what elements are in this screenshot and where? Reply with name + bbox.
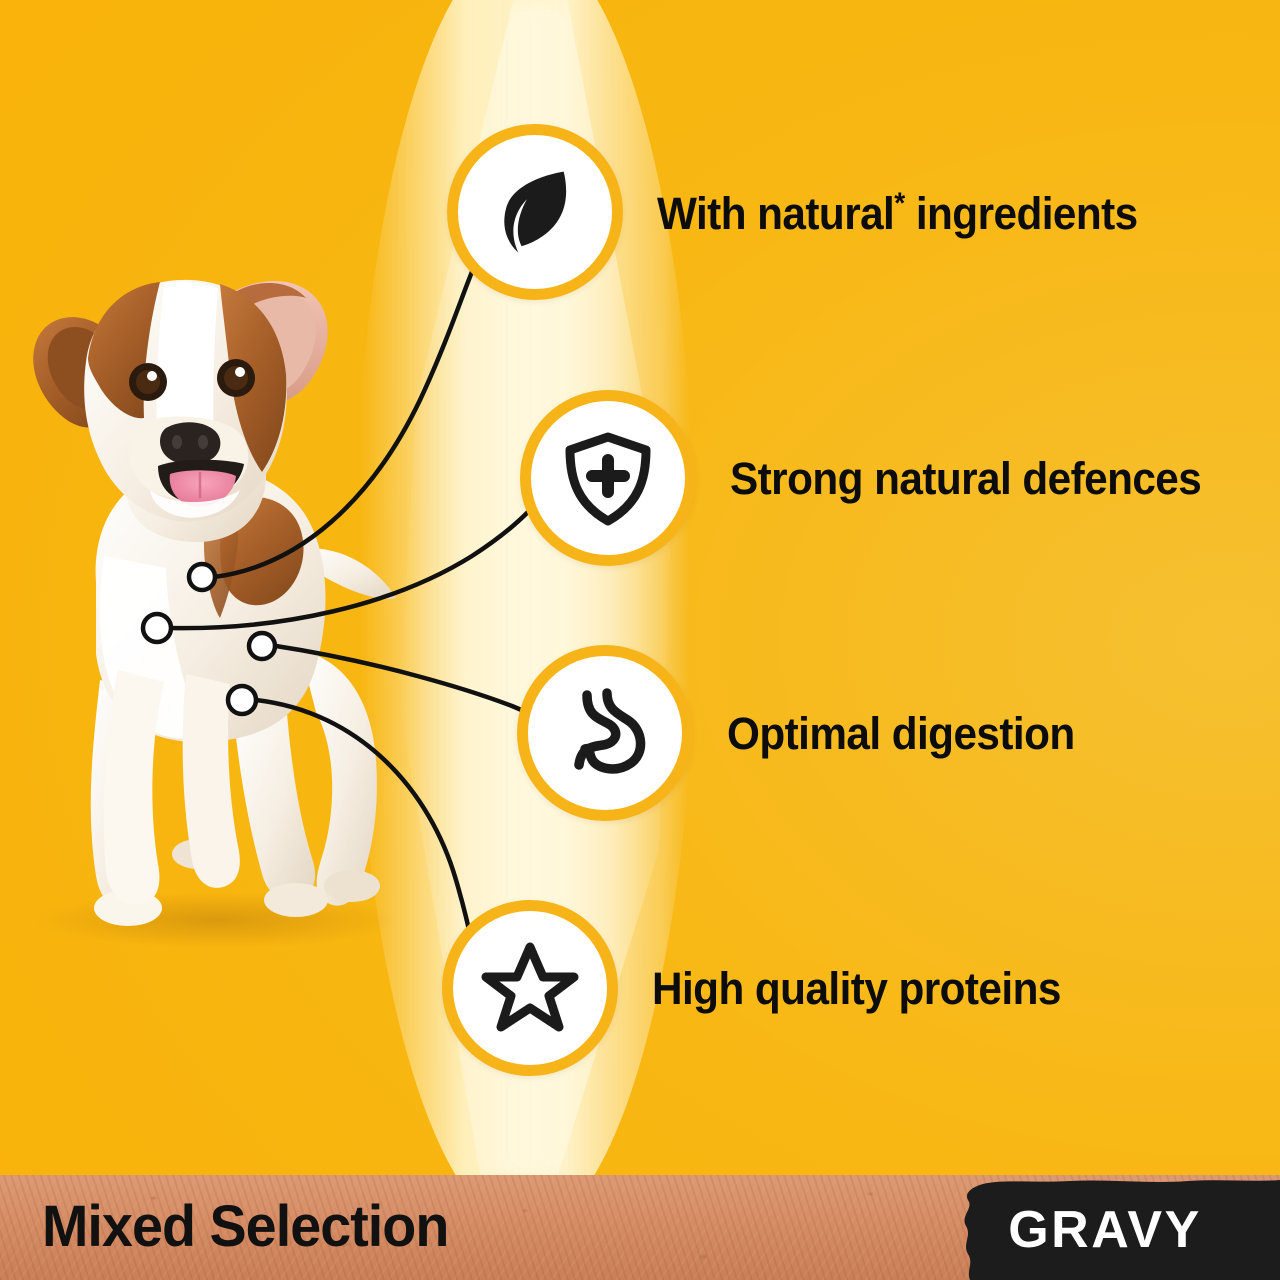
- benefit-item-optimal-digestion[interactable]: Optimal digestion: [517, 645, 1097, 821]
- benefit-icon-badge: [517, 645, 693, 821]
- benefit-item-natural-ingredients[interactable]: With natural* ingredients: [447, 124, 1168, 300]
- gravy-badge-label: GRAVY: [930, 1200, 1280, 1260]
- shield-plus-icon: [558, 428, 658, 528]
- benefit-icon-badge: [442, 900, 618, 1076]
- gravy-badge: GRAVY: [930, 1178, 1280, 1280]
- benefit-item-high-quality-proteins[interactable]: High quality proteins: [442, 900, 1087, 1076]
- product-feature-panel: With natural* ingredients Strong natural…: [0, 0, 1280, 1280]
- benefit-label: Strong natural defences: [730, 456, 1201, 501]
- benefit-item-natural-defences[interactable]: Strong natural defences: [520, 390, 1231, 566]
- star-icon: [479, 937, 581, 1039]
- benefit-icon-badge: [520, 390, 696, 566]
- stomach-icon: [555, 683, 655, 783]
- benefit-label: Optimal digestion: [727, 711, 1075, 756]
- leaf-icon: [483, 160, 587, 264]
- asterisk-mark: *: [894, 187, 904, 220]
- product-footer-bar: Mixed Selection GRAVY: [0, 1175, 1280, 1280]
- benefit-label: High quality proteins: [652, 966, 1061, 1011]
- product-variant-title: Mixed Selection: [42, 1193, 448, 1260]
- benefit-icon-badge: [447, 124, 623, 300]
- dog-photo: [0, 250, 470, 950]
- benefit-label: With natural* ingredients: [657, 189, 1138, 236]
